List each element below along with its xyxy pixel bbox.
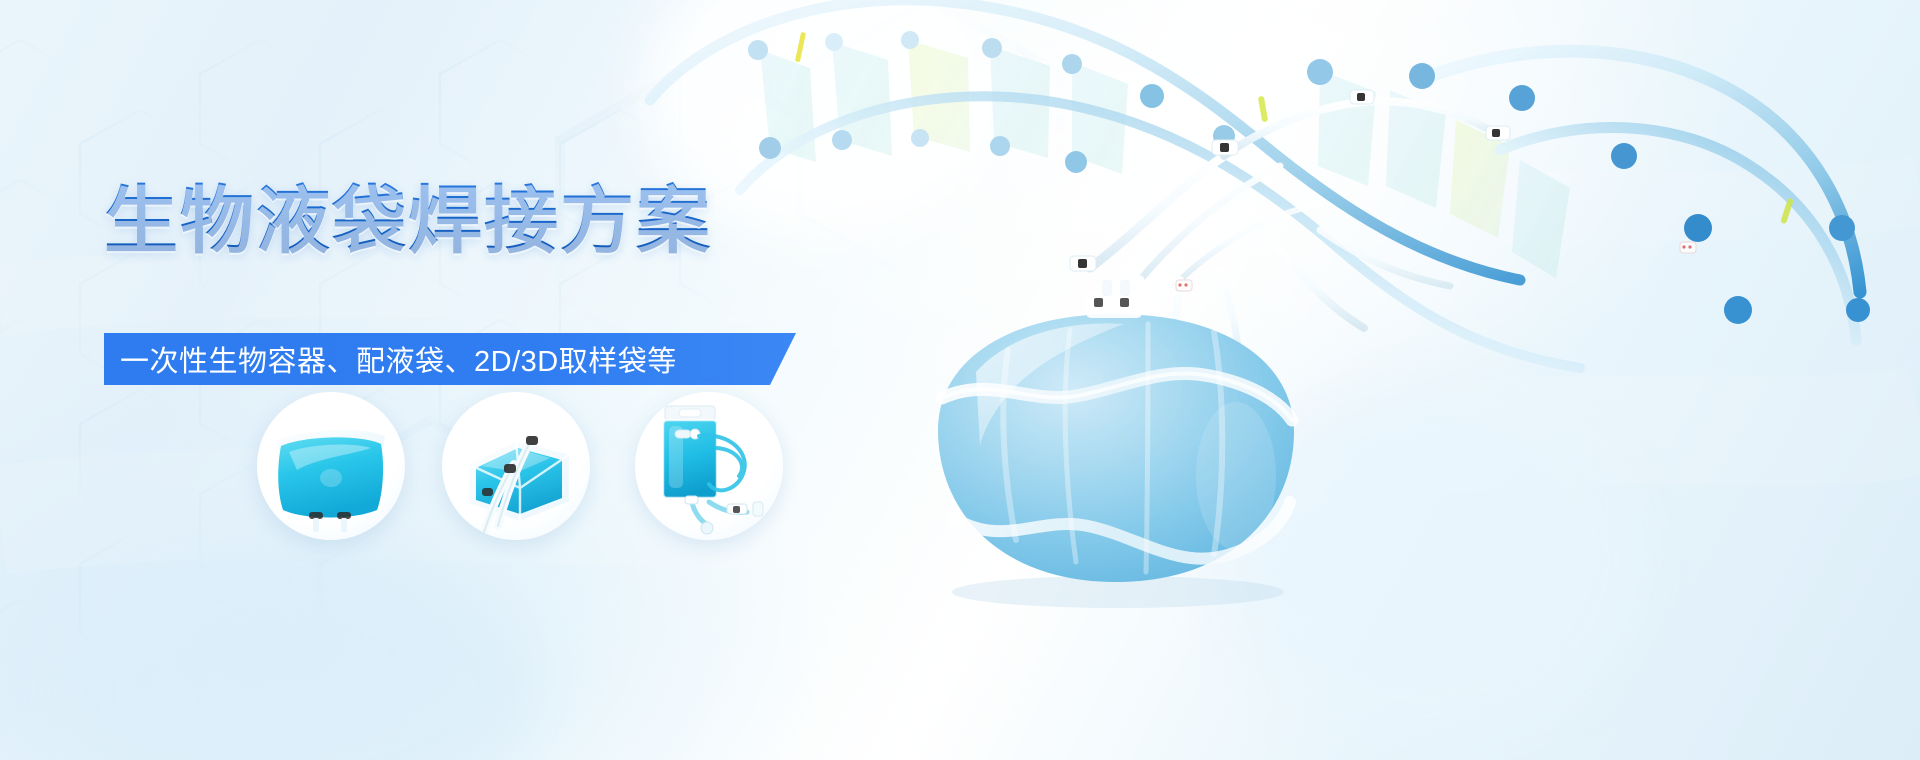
thumbnail-sampling-bag[interactable] [635,392,783,540]
thumbnail-3d-cube-bag[interactable] [442,392,590,540]
hero-banner: 生物液袋焊接方案 一次性生物容器、配液袋、2D/3D取样袋等 [0,0,1920,760]
thumbnail-2d-liquid-bag[interactable] [257,392,405,540]
product-thumbnail-group [0,0,900,760]
bioreactor-bag-graphic [880,280,1350,610]
